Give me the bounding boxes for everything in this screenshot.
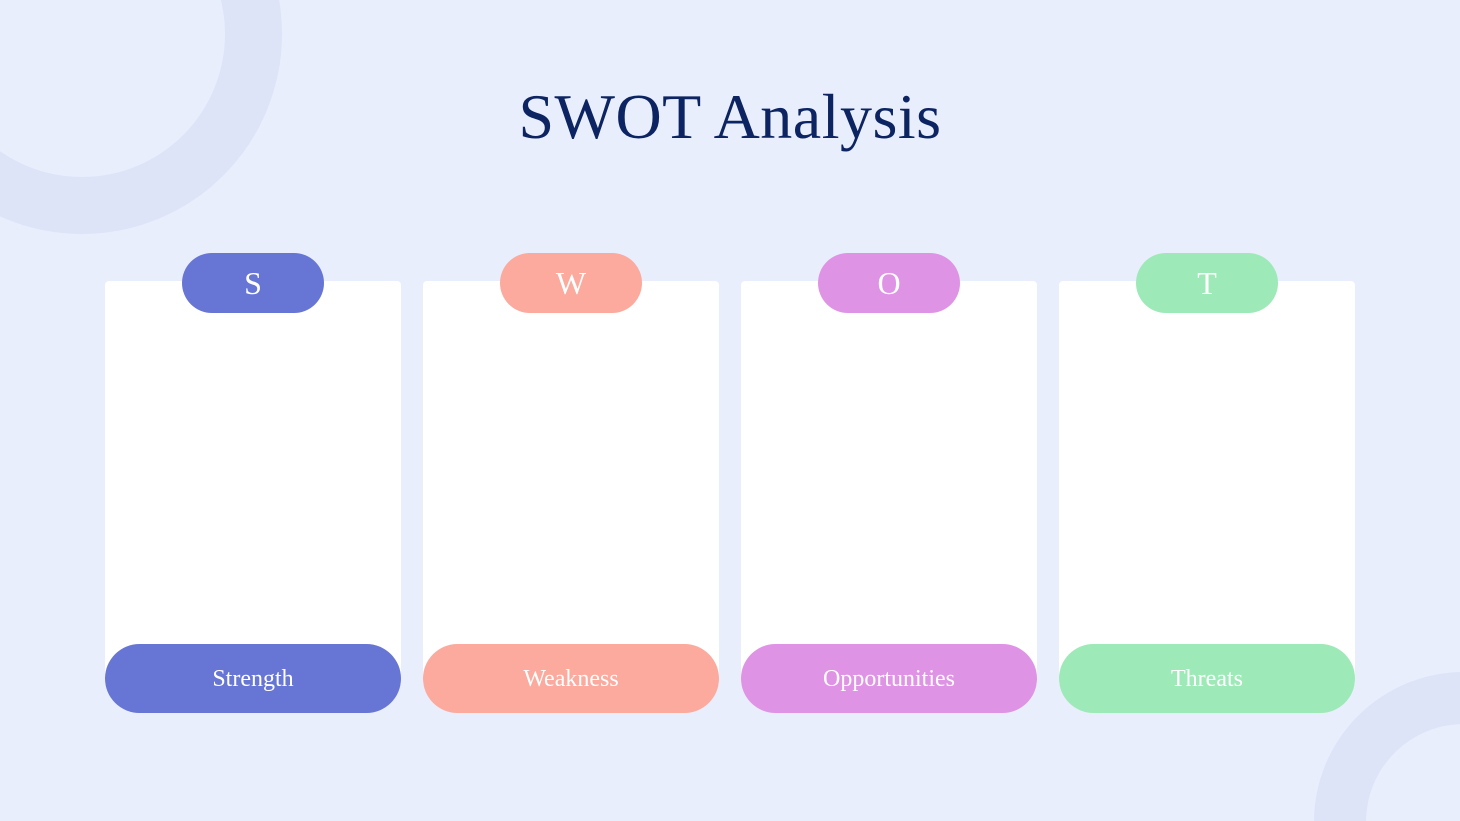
decorative-ring-bottom-right-hole (1366, 724, 1460, 821)
card-weakness (423, 281, 719, 687)
swot-column-strength: S Strength (105, 253, 401, 715)
swot-column-threats: T Threats (1059, 253, 1355, 715)
card-body-threats[interactable] (1059, 369, 1355, 669)
card-body-strength[interactable] (105, 369, 401, 669)
label-pill-opportunities[interactable]: Opportunities (741, 644, 1037, 713)
letter-pill-o[interactable]: O (818, 253, 960, 313)
card-threats (1059, 281, 1355, 687)
label-pill-strength[interactable]: Strength (105, 644, 401, 713)
swot-slide: SWOT Analysis S Strength W Weakness O Op… (0, 0, 1460, 821)
card-opportunities (741, 281, 1037, 687)
label-pill-weakness[interactable]: Weakness (423, 644, 719, 713)
letter-pill-w[interactable]: W (500, 253, 642, 313)
swot-columns: S Strength W Weakness O Opportunities T … (105, 253, 1355, 715)
page-title: SWOT Analysis (0, 83, 1460, 150)
letter-pill-s[interactable]: S (182, 253, 324, 313)
label-pill-threats[interactable]: Threats (1059, 644, 1355, 713)
card-body-opportunities[interactable] (741, 369, 1037, 669)
letter-pill-t[interactable]: T (1136, 253, 1278, 313)
swot-column-opportunities: O Opportunities (741, 253, 1037, 715)
swot-column-weakness: W Weakness (423, 253, 719, 715)
card-strength (105, 281, 401, 687)
card-body-weakness[interactable] (423, 369, 719, 669)
